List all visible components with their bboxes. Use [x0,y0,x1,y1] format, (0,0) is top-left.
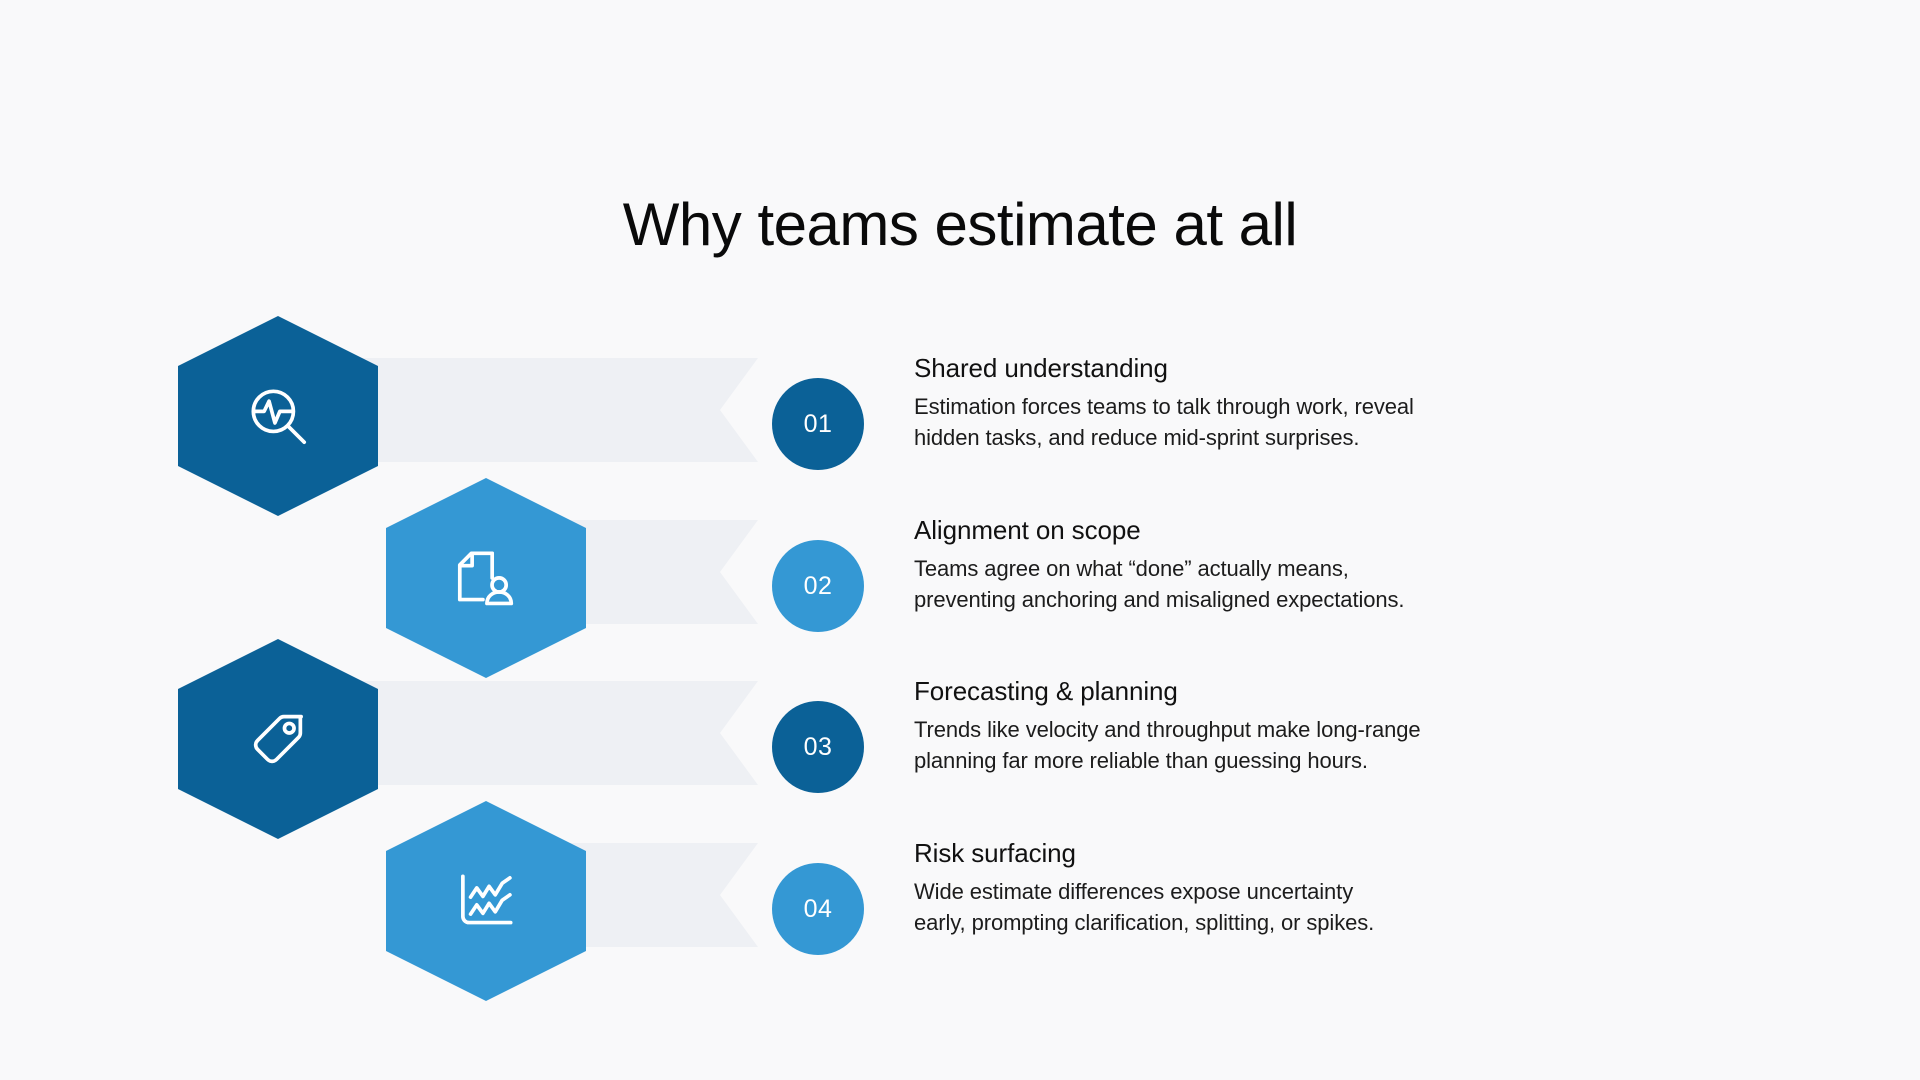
item-description-line: Trends like velocity and throughput make… [914,714,1554,746]
magnifier-pulse-icon [241,379,315,453]
item-description: Wide estimate differences expose uncerta… [914,876,1554,940]
item-description: Teams agree on what “done” actually mean… [914,553,1554,617]
page-title: Why teams estimate at all [0,192,1920,258]
item-description: Trends like velocity and throughput make… [914,714,1554,778]
price-tag-icon [241,702,315,776]
step-number-badge: 04 [772,863,864,955]
item-description-line: Wide estimate differences expose uncerta… [914,876,1554,908]
item-text: Forecasting & planning Trends like veloc… [914,675,1554,777]
feature-list: 01 Shared understanding Estimation force… [0,306,1920,1006]
list-item: 04 Risk surfacing Wide estimate differen… [0,791,1920,991]
item-description-line: Estimation forces teams to talk through … [914,391,1554,423]
item-title: Alignment on scope [914,514,1554,547]
document-person-icon [449,541,523,615]
step-number-badge: 02 [772,540,864,632]
item-text: Alignment on scope Teams agree on what “… [914,514,1554,616]
item-title: Risk surfacing [914,837,1554,870]
item-description-line: hidden tasks, and reduce mid-sprint surp… [914,422,1554,454]
item-description: Estimation forces teams to talk through … [914,391,1554,455]
item-title: Shared understanding [914,352,1554,385]
item-text: Risk surfacing Wide estimate differences… [914,837,1554,939]
icon-hexagon[interactable] [386,801,586,1001]
step-number-badge: 01 [772,378,864,470]
item-description-line: early, prompting clarification, splittin… [914,907,1554,939]
step-number-badge: 03 [772,701,864,793]
item-text: Shared understanding Estimation forces t… [914,352,1554,454]
item-description-line: preventing anchoring and misaligned expe… [914,584,1554,616]
item-title: Forecasting & planning [914,675,1554,708]
line-chart-icon [449,864,523,938]
item-description-line: planning far more reliable than guessing… [914,745,1554,777]
item-description-line: Teams agree on what “done” actually mean… [914,553,1554,585]
